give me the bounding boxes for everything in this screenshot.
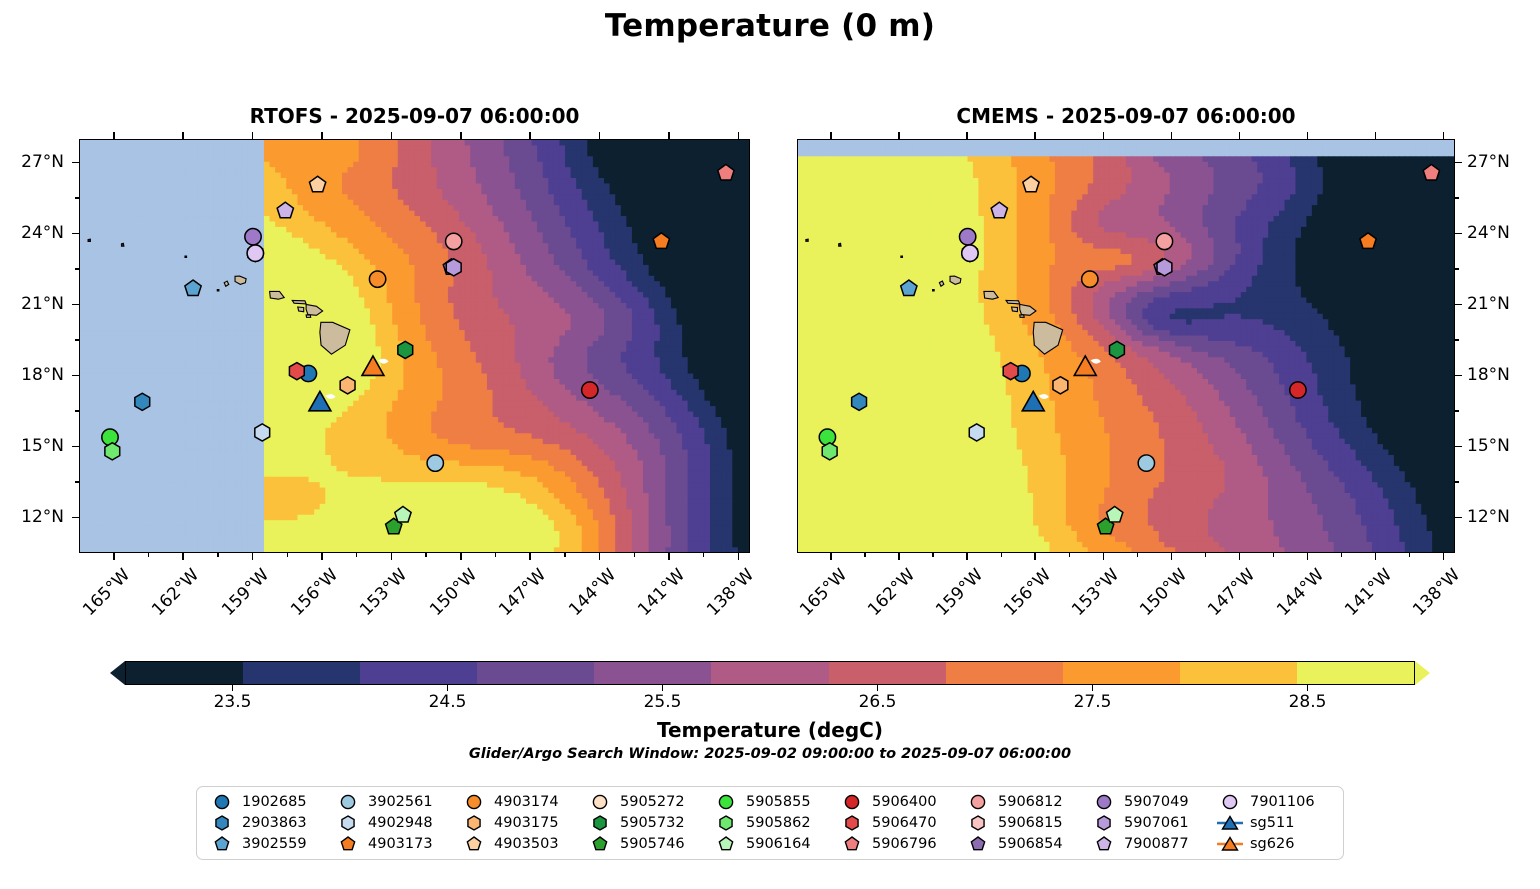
x-tick-label: 156°W	[277, 565, 342, 630]
x-tick	[830, 553, 832, 560]
legend-label: sg626	[1250, 836, 1294, 852]
colorbar-segment-6	[829, 662, 946, 684]
x-tick-label: 141°W	[1331, 565, 1396, 630]
x-tick-top	[391, 132, 393, 139]
legend-item-1902685[interactable]: 1902685	[203, 792, 329, 813]
legend-marker	[461, 793, 487, 811]
legend-marker	[1091, 814, 1117, 832]
legend-label: 5906854	[998, 836, 1063, 852]
x-tick	[1103, 553, 1105, 560]
legend-label: 5905862	[746, 815, 811, 831]
legend-marker	[965, 814, 991, 832]
legend-label: 5907049	[1124, 794, 1189, 810]
y-tick	[72, 304, 79, 306]
x-tick-label: 147°W	[485, 565, 550, 630]
x-tick	[1443, 553, 1445, 560]
x-minor-tick	[1273, 553, 1274, 557]
pentagon-marker-icon	[465, 835, 483, 853]
legend-label: 4903503	[494, 836, 559, 852]
colorbar-extend-high	[1415, 661, 1430, 685]
legend-marker	[335, 793, 361, 811]
colorbar-segment-10	[1297, 662, 1414, 684]
legend-label: 5906815	[998, 815, 1063, 831]
y-minor-tick	[1455, 268, 1459, 269]
colorbar-segment-8	[1063, 662, 1180, 684]
x-tick	[738, 553, 740, 560]
legend-item-5906796[interactable]: 5906796	[833, 833, 959, 854]
legend-item-5906470[interactable]: 5906470	[833, 813, 959, 834]
colorbar-tick-label: 27.5	[1048, 692, 1138, 712]
x-tick-top	[1103, 132, 1105, 139]
x-tick-label: 138°W	[694, 565, 759, 630]
y-tick	[1455, 375, 1462, 377]
x-tick-top	[1443, 132, 1445, 139]
legend-label: 5905746	[620, 836, 685, 852]
x-minor-tick	[356, 553, 357, 557]
colorbar-tick	[1092, 685, 1093, 691]
y-tick	[72, 233, 79, 235]
legend-label: 3902559	[242, 836, 307, 852]
colorbar-segment-1	[243, 662, 360, 684]
x-tick-top	[898, 132, 900, 139]
y-tick-label: 27°N	[1467, 152, 1529, 172]
legend-item-5906812[interactable]: 5906812	[959, 792, 1085, 813]
pentagon-marker-icon	[717, 835, 735, 853]
legend-item-5906400[interactable]: 5906400	[833, 792, 959, 813]
colorbar-tick	[232, 685, 233, 691]
hexagon-marker-icon	[969, 814, 987, 832]
legend-marker	[839, 814, 865, 832]
y-tick	[72, 375, 79, 377]
x-minor-tick	[634, 553, 635, 557]
x-tick-top	[182, 132, 184, 139]
legend-label: 5906812	[998, 794, 1063, 810]
legend-item-5905732[interactable]: 5905732	[581, 813, 707, 834]
circle-marker-icon	[1221, 793, 1239, 811]
legend-item-5907061[interactable]: 5907061	[1085, 813, 1211, 834]
x-minor-tick	[864, 553, 865, 557]
x-tick	[252, 553, 254, 560]
y-tick	[1455, 162, 1462, 164]
legend-label: 5907061	[1124, 815, 1189, 831]
legend-label: 7900877	[1124, 836, 1189, 852]
legend-item-5905746[interactable]: 5905746	[581, 833, 707, 854]
colorbar-tick	[877, 685, 878, 691]
legend-item-4902948[interactable]: 4902948	[329, 813, 455, 834]
legend-marker	[1091, 793, 1117, 811]
legend-item-3902559[interactable]: 3902559	[203, 833, 329, 854]
colorbar-tick	[1307, 685, 1308, 691]
y-tick-label: 18°N	[2, 365, 64, 385]
x-minor-tick	[1001, 553, 1002, 557]
legend-marker	[1217, 835, 1243, 853]
x-tick	[460, 553, 462, 560]
legend-label: 5905855	[746, 794, 811, 810]
x-tick	[668, 553, 670, 560]
colorbar-tick-label: 28.5	[1263, 692, 1353, 712]
x-tick	[529, 553, 531, 560]
y-tick-label: 15°N	[1467, 436, 1529, 456]
x-minor-tick	[1341, 553, 1342, 557]
pentagon-marker-icon	[843, 835, 861, 853]
hexagon-marker-icon	[213, 814, 231, 832]
legend-label: 5905732	[620, 815, 685, 831]
legend-item-2903863[interactable]: 2903863	[203, 813, 329, 834]
colorbar-segment-4	[594, 662, 711, 684]
x-tick-top	[1034, 132, 1036, 139]
hexagon-marker-icon	[1095, 814, 1113, 832]
x-tick-top	[1171, 132, 1173, 139]
pentagon-marker-icon	[1095, 835, 1113, 853]
x-tick-label: 144°W	[555, 565, 620, 630]
x-tick-label: 150°W	[1126, 565, 1191, 630]
x-tick-top	[252, 132, 254, 139]
colorbar-segment-0	[126, 662, 243, 684]
x-minor-tick	[1137, 553, 1138, 557]
colorbar-tick	[662, 685, 663, 691]
y-tick	[1455, 233, 1462, 235]
y-minor-tick	[1455, 197, 1459, 198]
map-panel-cmems[interactable]	[797, 139, 1455, 553]
legend-marker	[335, 835, 361, 853]
x-minor-tick	[1069, 553, 1070, 557]
y-tick	[72, 446, 79, 448]
x-minor-tick	[287, 553, 288, 557]
temperature-field-rtofs	[80, 140, 749, 553]
x-tick-top	[599, 132, 601, 139]
x-tick	[1034, 553, 1036, 560]
legend-item-5905855[interactable]: 5905855	[707, 792, 833, 813]
x-tick-label: 159°W	[922, 565, 987, 630]
x-tick	[391, 553, 393, 560]
legend-item-4903173[interactable]: 4903173	[329, 833, 455, 854]
legend-item-sg511[interactable]: sg511	[1211, 813, 1337, 834]
legend-marker	[965, 793, 991, 811]
x-tick	[182, 553, 184, 560]
legend-marker	[839, 793, 865, 811]
colorbar-tick-label: 26.5	[833, 692, 923, 712]
x-tick-top	[113, 132, 115, 139]
circle-marker-icon	[591, 793, 609, 811]
circle-marker-icon	[213, 793, 231, 811]
y-minor-tick	[75, 197, 79, 198]
legend-item-5906815[interactable]: 5906815	[959, 813, 1085, 834]
x-tick	[1171, 553, 1173, 560]
y-tick	[1455, 517, 1462, 519]
x-tick-top	[1239, 132, 1241, 139]
legend-label: 5906164	[746, 836, 811, 852]
legend-item-5906854[interactable]: 5906854	[959, 833, 1085, 854]
temperature-field-cmems	[798, 140, 1454, 553]
x-minor-tick	[932, 553, 933, 557]
legend-item-4903503[interactable]: 4903503	[455, 833, 581, 854]
colorbar-tick-label: 24.5	[403, 692, 493, 712]
legend-label: 4903175	[494, 815, 559, 831]
y-minor-tick	[75, 268, 79, 269]
legend-label: 4903173	[368, 836, 433, 852]
y-minor-tick	[75, 339, 79, 340]
x-tick	[1239, 553, 1241, 560]
y-tick-label: 15°N	[2, 436, 64, 456]
colorbar-segment-5	[711, 662, 828, 684]
panel-title-cmems: CMEMS - 2025-09-07 06:00:00	[797, 104, 1455, 128]
y-tick-label: 27°N	[2, 152, 64, 172]
legend-marker	[209, 835, 235, 853]
legend-label: 5906470	[872, 815, 937, 831]
legend-item-5905272[interactable]: 5905272	[581, 792, 707, 813]
colorbar-segment-9	[1180, 662, 1297, 684]
legend-item-5907049[interactable]: 5907049	[1085, 792, 1211, 813]
x-tick-label: 162°W	[854, 565, 919, 630]
legend-item-5905862[interactable]: 5905862	[707, 813, 833, 834]
platform-legend[interactable]: 1902685290386339025593902561490294849031…	[196, 786, 1344, 860]
x-tick-label: 165°W	[786, 565, 851, 630]
legend-marker	[1217, 793, 1243, 811]
legend-item-4903174[interactable]: 4903174	[455, 792, 581, 813]
y-tick	[1455, 446, 1462, 448]
x-minor-tick	[1205, 553, 1206, 557]
circle-marker-icon	[339, 793, 357, 811]
legend-marker	[209, 793, 235, 811]
x-tick	[966, 553, 968, 560]
x-tick-label: 153°W	[346, 565, 411, 630]
x-tick-top	[529, 132, 531, 139]
colorbar-segment-7	[946, 662, 1063, 684]
legend-label: 5906400	[872, 794, 937, 810]
y-tick	[72, 162, 79, 164]
legend-item-sg626[interactable]: sg626	[1211, 833, 1337, 854]
x-tick-top	[460, 132, 462, 139]
y-tick-label: 24°N	[2, 223, 64, 243]
legend-marker	[209, 814, 235, 832]
y-minor-tick	[75, 481, 79, 482]
x-tick-top	[830, 132, 832, 139]
pentagon-marker-icon	[213, 835, 231, 853]
x-tick	[1307, 553, 1309, 560]
x-minor-tick	[425, 553, 426, 557]
legend-label: 1902685	[242, 794, 307, 810]
x-minor-tick	[1409, 553, 1410, 557]
x-tick-label: 156°W	[990, 565, 1055, 630]
y-tick	[72, 517, 79, 519]
y-minor-tick	[1455, 339, 1459, 340]
y-tick-label: 12°N	[1467, 507, 1529, 527]
x-minor-tick	[217, 553, 218, 557]
colorbar-segment-2	[360, 662, 477, 684]
y-tick	[1455, 304, 1462, 306]
x-tick	[1375, 553, 1377, 560]
legend-marker	[965, 835, 991, 853]
x-tick-label: 162°W	[138, 565, 203, 630]
hexagon-marker-icon	[339, 814, 357, 832]
circle-marker-icon	[1095, 793, 1113, 811]
x-tick-top	[966, 132, 968, 139]
hexagon-marker-icon	[843, 814, 861, 832]
x-tick	[898, 553, 900, 560]
x-tick-top	[1375, 132, 1377, 139]
colorbar-tick-label: 23.5	[188, 692, 278, 712]
legend-label: 3902561	[368, 794, 433, 810]
legend-item-7900877[interactable]: 7900877	[1085, 833, 1211, 854]
search-window-caption: Glider/Argo Search Window: 2025-09-02 09…	[0, 746, 1540, 762]
pentagon-marker-icon	[591, 835, 609, 853]
x-minor-tick	[495, 553, 496, 557]
legend-marker	[587, 793, 613, 811]
x-tick-label: 150°W	[416, 565, 481, 630]
circle-marker-icon	[717, 793, 735, 811]
x-tick-top	[321, 132, 323, 139]
legend-label: sg511	[1250, 815, 1294, 831]
legend-marker	[587, 814, 613, 832]
legend-label: 4903174	[494, 794, 559, 810]
y-tick-label: 18°N	[1467, 365, 1529, 385]
legend-label: 5905272	[620, 794, 685, 810]
x-tick-label: 165°W	[69, 565, 134, 630]
legend-marker	[713, 835, 739, 853]
map-panel-rtofs[interactable]	[79, 139, 750, 553]
colorbar-label: Temperature (degC)	[0, 718, 1540, 742]
pentagon-marker-icon	[339, 835, 357, 853]
glider-track-icon	[1217, 814, 1243, 832]
colorbar[interactable]	[125, 661, 1415, 685]
y-minor-tick	[75, 410, 79, 411]
y-tick-label: 21°N	[1467, 294, 1529, 314]
x-minor-tick	[564, 553, 565, 557]
legend-label: 7901106	[1250, 794, 1315, 810]
circle-marker-icon	[465, 793, 483, 811]
x-tick-top	[738, 132, 740, 139]
legend-label: 4902948	[368, 815, 433, 831]
hexagon-marker-icon	[591, 814, 609, 832]
x-minor-tick	[148, 553, 149, 557]
glider-track-icon	[1217, 835, 1243, 853]
y-minor-tick	[1455, 410, 1459, 411]
circle-marker-icon	[969, 793, 987, 811]
panel-title-rtofs: RTOFS - 2025-09-07 06:00:00	[79, 104, 750, 128]
x-tick-label: 141°W	[624, 565, 689, 630]
x-tick-top	[668, 132, 670, 139]
legend-marker	[335, 814, 361, 832]
colorbar-segment-3	[477, 662, 594, 684]
y-tick-label: 21°N	[2, 294, 64, 314]
legend-marker	[1091, 835, 1117, 853]
x-tick-label: 147°W	[1195, 565, 1260, 630]
legend-label: 5906796	[872, 836, 937, 852]
figure-title: Temperature (0 m)	[0, 8, 1540, 44]
colorbar-extend-low	[110, 661, 125, 685]
x-tick-label: 144°W	[1263, 565, 1328, 630]
circle-marker-icon	[843, 793, 861, 811]
hexagon-marker-icon	[717, 814, 735, 832]
legend-marker	[461, 835, 487, 853]
legend-marker	[713, 793, 739, 811]
hexagon-marker-icon	[465, 814, 483, 832]
legend-marker	[587, 835, 613, 853]
y-tick-label: 24°N	[1467, 223, 1529, 243]
legend-item-5906164[interactable]: 5906164	[707, 833, 833, 854]
x-tick-label: 153°W	[1058, 565, 1123, 630]
x-tick-top	[1307, 132, 1309, 139]
legend-marker	[1217, 814, 1243, 832]
legend-label: 2903863	[242, 815, 307, 831]
pentagon-marker-icon	[969, 835, 987, 853]
x-tick	[113, 553, 115, 560]
legend-item-4903175[interactable]: 4903175	[455, 813, 581, 834]
x-minor-tick	[703, 553, 704, 557]
legend-marker	[461, 814, 487, 832]
x-tick-label: 138°W	[1399, 565, 1464, 630]
colorbar-tick-label: 25.5	[618, 692, 708, 712]
colorbar-tick	[447, 685, 448, 691]
y-minor-tick	[1455, 481, 1459, 482]
y-tick-label: 12°N	[2, 507, 64, 527]
legend-item-7901106[interactable]: 7901106	[1211, 792, 1337, 813]
legend-item-3902561[interactable]: 3902561	[329, 792, 455, 813]
legend-marker	[839, 835, 865, 853]
x-tick	[599, 553, 601, 560]
x-tick-label: 159°W	[208, 565, 273, 630]
legend-marker	[713, 814, 739, 832]
x-tick	[321, 553, 323, 560]
